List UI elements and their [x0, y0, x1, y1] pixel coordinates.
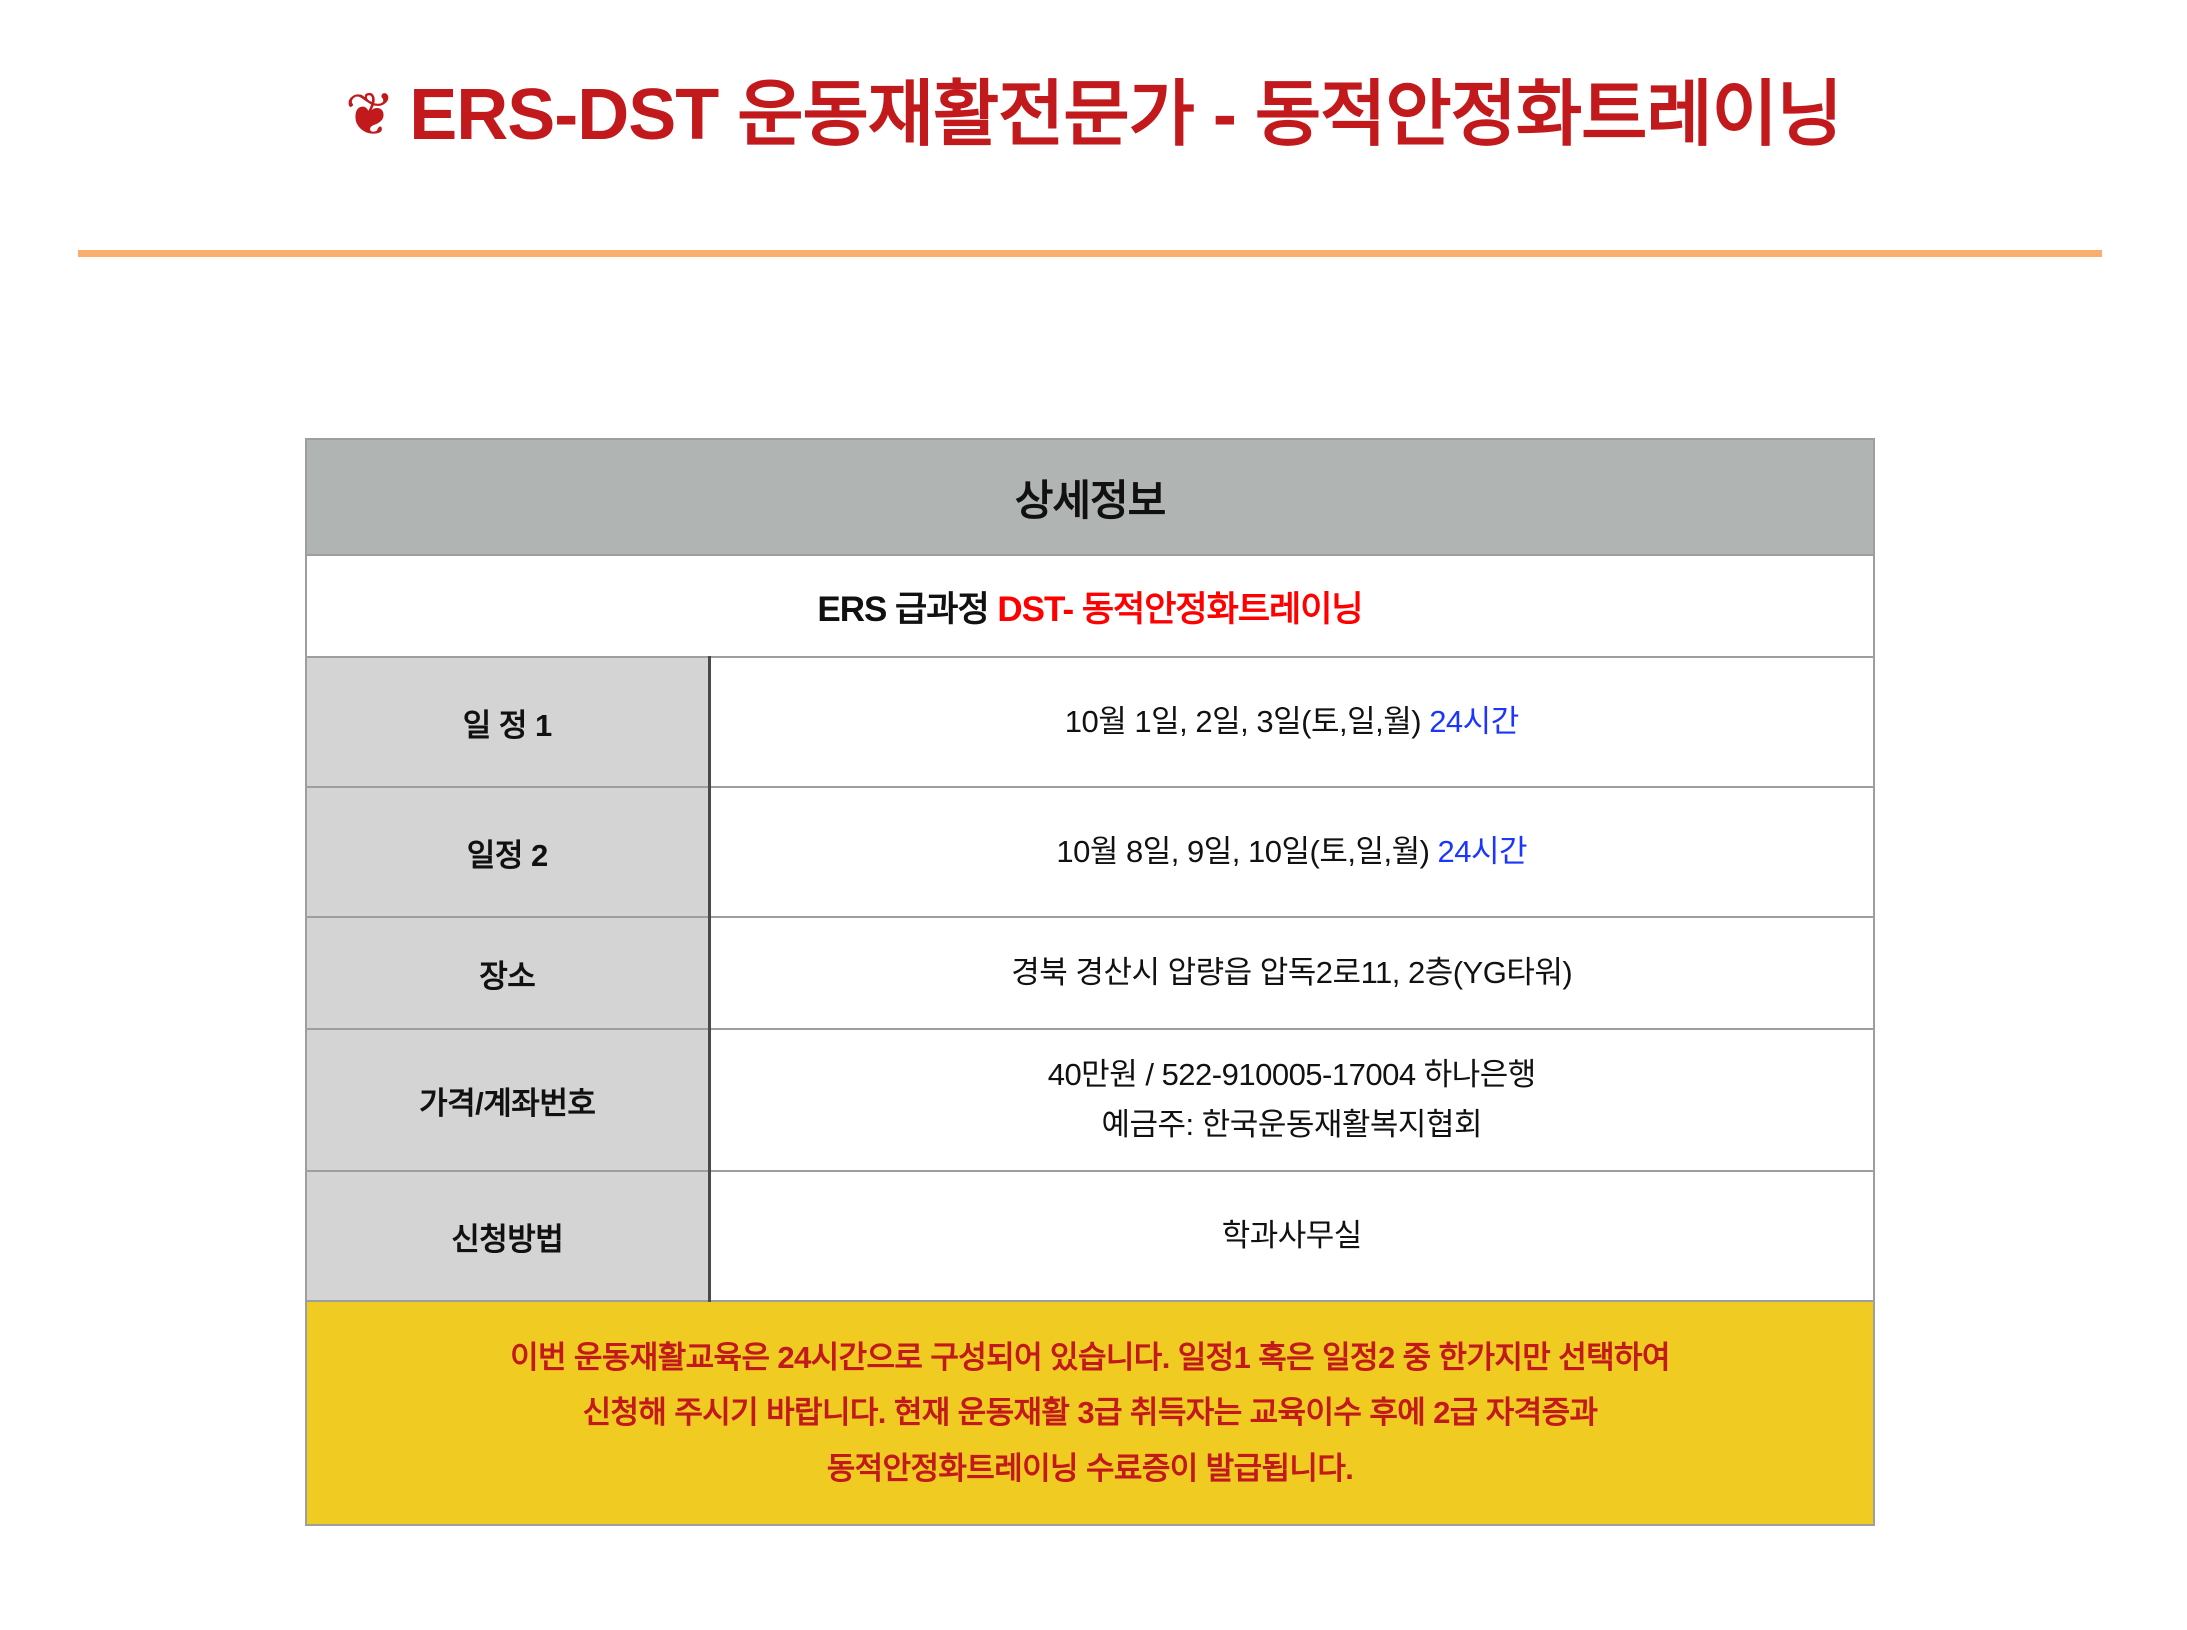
row-label-apply-method: 신청방법 [306, 1171, 709, 1301]
row-label-text: 일정 2 [467, 838, 548, 873]
details-table: 상세정보 ERS 급과정 DST- 동적안정화트레이닝 일 정 1 10월 1일… [305, 438, 1875, 1526]
row-label-schedule-1: 일 정 1 [306, 657, 709, 787]
note-line-1: 이번 운동재활교육은 24시간으로 구성되어 있습니다. 일정1 혹은 일정2 … [307, 1330, 1873, 1385]
note-line-2: 신청해 주시기 바랍니다. 현재 운동재활 3급 취득자는 교육이수 후에 2급… [307, 1385, 1873, 1440]
table-row: 신청방법 학과사무실 [306, 1171, 1874, 1301]
subtitle-plain-text: ERS 급과정 [817, 590, 997, 629]
table-row: 일 정 1 10월 1일, 2일, 3일(토,일,월) 24시간 [306, 657, 1874, 787]
table-row: 가격/계좌번호 40만원 / 522-910005-17004 하나은행 예금주… [306, 1029, 1874, 1171]
row-label-text: 신청방법 [451, 1222, 563, 1257]
row-value-schedule-2: 10월 8일, 9일, 10일(토,일,월) 24시간 [709, 787, 1874, 917]
table-subtitle-cell: ERS 급과정 DST- 동적안정화트레이닝 [306, 555, 1874, 657]
row-label-text: 일 정 1 [463, 708, 552, 743]
row-value-text: 10월 8일, 9일, 10일(토,일,월) [1056, 834, 1437, 869]
row-label-schedule-2: 일정 2 [306, 787, 709, 917]
clover-bullet-icon: ❦ [345, 80, 395, 150]
row-value-accent-text: 24시간 [1438, 834, 1528, 869]
note-cell: 이번 운동재활교육은 24시간으로 구성되어 있습니다. 일정1 혹은 일정2 … [306, 1301, 1874, 1525]
page-title: ❦ERS-DST 운동재활전문가 - 동적안정화트레이닝 [0, 76, 2187, 155]
table-row: 일정 2 10월 8일, 9일, 10일(토,일,월) 24시간 [306, 787, 1874, 917]
row-label-text: 가격/계좌번호 [419, 1086, 595, 1121]
table-header-row: 상세정보 [306, 439, 1874, 555]
table-header-cell: 상세정보 [306, 439, 1874, 555]
subtitle-accent-text: DST- 동적안정화트레이닝 [997, 590, 1362, 629]
row-label-price-account: 가격/계좌번호 [306, 1029, 709, 1171]
row-value-location: 경북 경산시 압량읍 압독2로11, 2층(YG타워) [709, 917, 1874, 1029]
row-value-price-account: 40만원 / 522-910005-17004 하나은행 예금주: 한국운동재활… [709, 1029, 1874, 1171]
note-line-3: 동적안정화트레이닝 수료증이 발급됩니다. [307, 1441, 1873, 1496]
table-header-label: 상세정보 [1015, 477, 1166, 524]
row-value-line-2: 예금주: 한국운동재활복지협회 [711, 1100, 1874, 1150]
row-value-text: 10월 1일, 2일, 3일(토,일,월) [1065, 704, 1429, 739]
table-row: 장소 경북 경산시 압량읍 압독2로11, 2층(YG타워) [306, 917, 1874, 1029]
row-value-line-1: 40만원 / 522-910005-17004 하나은행 [711, 1050, 1874, 1100]
row-value-apply-method: 학과사무실 [709, 1171, 1874, 1301]
row-value-schedule-1: 10월 1일, 2일, 3일(토,일,월) 24시간 [709, 657, 1874, 787]
row-value-text: 학과사무실 [1222, 1218, 1362, 1253]
table-note-row: 이번 운동재활교육은 24시간으로 구성되어 있습니다. 일정1 혹은 일정2 … [306, 1301, 1874, 1525]
row-label-text: 장소 [479, 959, 535, 994]
page-title-text: ERS-DST 운동재활전문가 - 동적안정화트레이닝 [409, 76, 1842, 155]
title-divider [78, 250, 2102, 257]
row-value-text: 경북 경산시 압량읍 압독2로11, 2층(YG타워) [1011, 955, 1572, 990]
row-value-accent-text: 24시간 [1429, 704, 1519, 739]
table-subtitle-row: ERS 급과정 DST- 동적안정화트레이닝 [306, 555, 1874, 657]
row-label-location: 장소 [306, 917, 709, 1029]
